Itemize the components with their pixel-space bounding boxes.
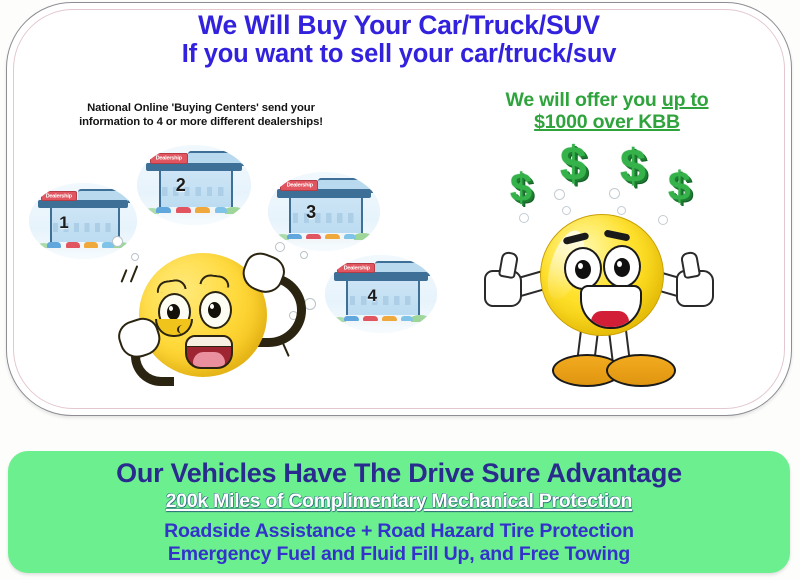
dealership-shrub-right-4 xyxy=(411,315,429,322)
sparkle-dot-1 xyxy=(554,189,565,200)
offer-line-2: $1000 over KBB xyxy=(534,111,680,133)
happy-pupil-right xyxy=(614,258,630,277)
dealership-number-4: 4 xyxy=(368,286,377,306)
motion-line-2 xyxy=(130,265,139,283)
happy-eye-left xyxy=(564,247,602,290)
happy-mouth xyxy=(580,285,642,329)
happy-face xyxy=(540,214,664,336)
dealership-sign-label-4: Dealership xyxy=(343,265,369,271)
headline-line-1: We Will Buy Your Car/Truck/SUV xyxy=(198,10,600,40)
thought-bubble-dot-8 xyxy=(300,251,308,259)
dealership-car-4d xyxy=(401,316,413,321)
happy-eye-right xyxy=(603,245,641,288)
dealership-shrub-right-3 xyxy=(354,233,372,240)
dealership-bubble-2: Dealership 2 xyxy=(137,145,251,225)
confused-eye-right xyxy=(199,291,232,329)
dealership-roof-beam-1 xyxy=(38,200,129,208)
confused-teeth xyxy=(187,337,231,347)
happy-eyebrow-right xyxy=(604,229,631,241)
dollar-sign-icon-2: $ xyxy=(560,141,587,189)
dealership-car-2d xyxy=(215,207,228,213)
dealership-car-2b xyxy=(176,207,191,213)
advertisement-root: We Will Buy Your Car/Truck/SUV If you wa… xyxy=(0,0,800,580)
dealership-windows-3 xyxy=(293,213,358,222)
happy-tongue xyxy=(591,311,629,327)
dealership-car-4c xyxy=(382,316,397,321)
buying-centers-note-line-1: National Online 'Buying Centers' send yo… xyxy=(87,102,315,114)
headline-line-2: If you want to sell your car/truck/suv xyxy=(7,40,791,69)
confused-pupil-left xyxy=(167,304,180,320)
confused-emoji xyxy=(117,243,297,378)
dealership-number-1: 1 xyxy=(59,213,68,233)
page-title: We Will Buy Your Car/Truck/SUV If you wa… xyxy=(7,11,791,69)
dealership-car-4a xyxy=(344,316,359,321)
happy-pupil-left xyxy=(575,260,591,279)
drive-sure-advantage-banner: Our Vehicles Have The Drive Sure Advanta… xyxy=(8,451,790,573)
buying-centers-note-line-2: information to 4 or more different deale… xyxy=(79,116,323,128)
dealership-sign-label-3: Dealership xyxy=(286,182,312,188)
dealership-windows-2 xyxy=(162,187,228,197)
banner-mechanical-protection: 200k Miles of Complimentary Mechanical P… xyxy=(8,490,790,513)
dealership-car-1a xyxy=(47,242,61,247)
dealership-car-3a xyxy=(287,234,302,240)
motion-line-1 xyxy=(120,269,127,283)
dealership-bubble-4: Dealership 4 xyxy=(325,255,437,333)
dealership-shrub-right-2 xyxy=(225,207,243,214)
offer-line-1-underlined: up to xyxy=(662,89,709,111)
motion-line-3 xyxy=(282,343,290,357)
banner-headline: Our Vehicles Have The Drive Sure Advanta… xyxy=(8,458,790,489)
confused-tongue xyxy=(193,352,225,367)
dollar-sign-icon-1: $ xyxy=(510,168,532,208)
dealership-car-1c xyxy=(84,242,98,247)
thumbs-up-icon-right xyxy=(680,251,701,280)
dealership-number-3: 3 xyxy=(306,202,316,223)
offer-line-1-prefix: We will offer you xyxy=(505,89,661,111)
confused-pupil-right xyxy=(208,302,221,318)
dealership-sign-4: Dealership xyxy=(337,263,375,274)
banner-emergency-fuel: Emergency Fuel and Fluid Fill Up, and Fr… xyxy=(8,543,790,566)
dealership-sign-2: Dealership xyxy=(150,153,188,164)
dealership-sign-label-1: Dealership xyxy=(46,193,72,199)
dealership-sign-1: Dealership xyxy=(41,191,78,201)
offer-callout: We will offer you up to $1000 over KBB xyxy=(462,89,752,133)
dealership-car-1b xyxy=(66,242,80,247)
confused-eyebrow-left xyxy=(155,278,186,293)
dealership-car-4b xyxy=(363,316,378,321)
top-promo-card: We Will Buy Your Car/Truck/SUV If you wa… xyxy=(6,2,792,416)
confused-cheek-line xyxy=(177,325,188,334)
dollar-sign-icon-3: $ xyxy=(620,142,646,189)
dealership-car-3d xyxy=(344,234,356,240)
dealership-roof-beam-4 xyxy=(334,272,428,281)
happy-right-shoe xyxy=(606,354,676,387)
dealership-bubble-3: Dealership 3 xyxy=(268,172,380,251)
dealership-car-2c xyxy=(195,207,210,213)
dealership-windows-4 xyxy=(350,296,415,305)
banner-roadside-assistance: Roadside Assistance + Road Hazard Tire P… xyxy=(8,520,790,543)
dealership-roof-beam-2 xyxy=(146,163,242,172)
happy-thumbs-up-emoji xyxy=(482,208,712,386)
dollar-sign-icon-4: $ xyxy=(668,166,691,207)
dealership-sign-label-2: Dealership xyxy=(156,156,182,162)
confused-eyebrow-right xyxy=(199,273,230,288)
buying-centers-note: National Online 'Buying Centers' send yo… xyxy=(51,102,351,129)
dealership-car-3b xyxy=(306,234,321,240)
dealership-sign-3: Dealership xyxy=(280,180,318,191)
dealership-roof-beam-3 xyxy=(277,189,371,198)
dealership-car-3c xyxy=(325,234,340,240)
dealership-number-2: 2 xyxy=(176,175,186,196)
confused-mouth xyxy=(185,335,233,369)
dealership-car-2a xyxy=(156,207,171,213)
sparkle-dot-3 xyxy=(609,188,620,199)
